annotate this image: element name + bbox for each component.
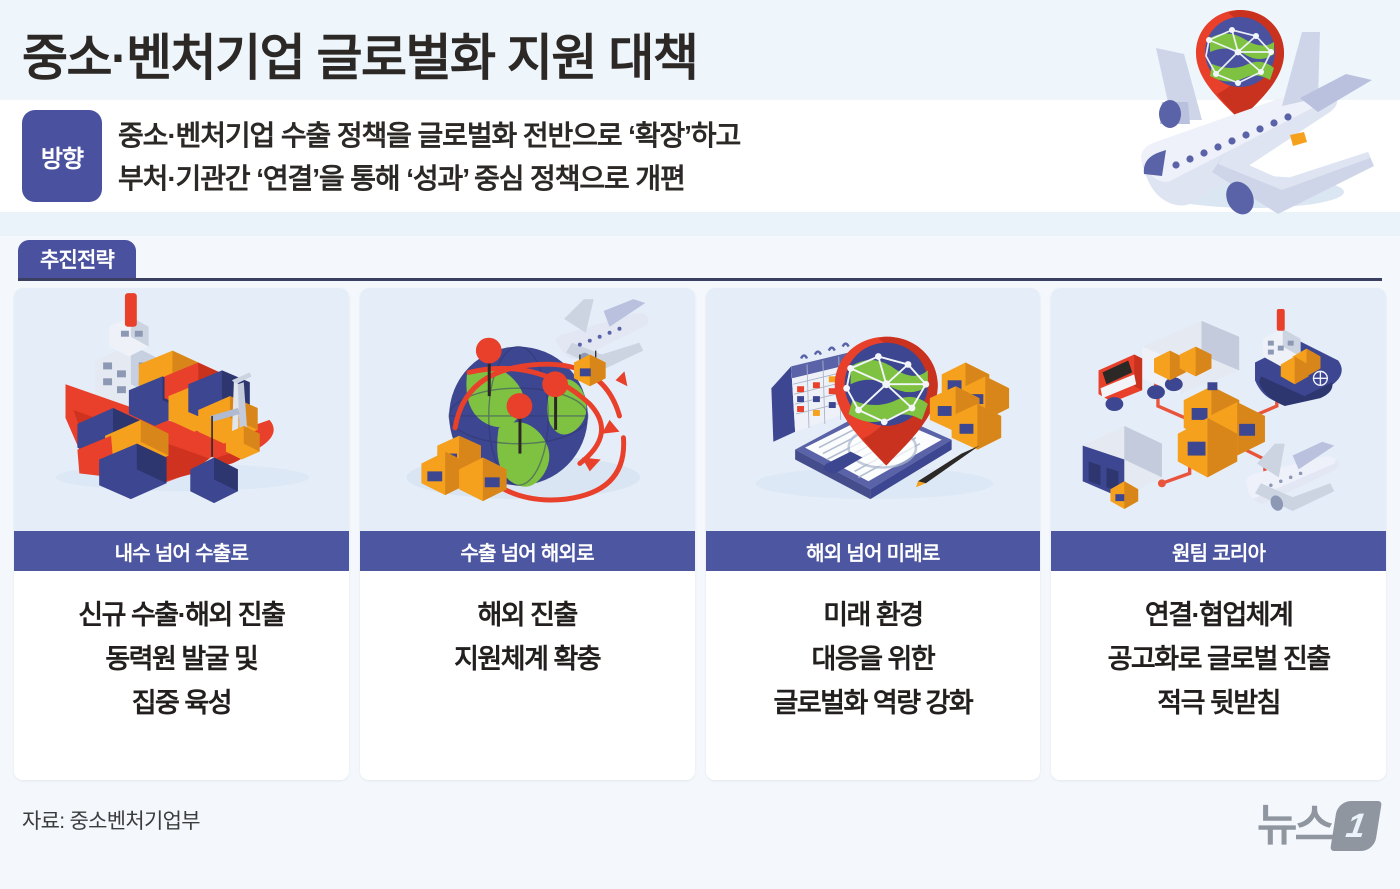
direction-line-1: 중소·벤처기업 수출 정책을 글로벌화 전반으로 ‘확장’하고 [118, 114, 740, 157]
page-title: 중소·벤처기업 글로벌화 지원 대책 [22, 18, 697, 90]
strategy-divider [18, 278, 1382, 281]
direction-line-2: 부처·기관간 ‘연결’을 통해 ‘성과’ 중심 정책으로 개편 [118, 157, 740, 200]
card-body-text: 해외 진출 지원체계 확충 [360, 571, 695, 780]
card-header-label: 해외 넘어 미래로 [706, 531, 1041, 571]
globe-network-airplane-icon [360, 288, 695, 531]
strategy-tab[interactable]: 추진전략 [18, 240, 136, 278]
strategy-card-grid: 내수 넘어 수출로 신규 수출·해외 진출 동력원 발굴 및 집중 육성 [14, 288, 1386, 780]
card-header-label: 원팀 코리아 [1051, 531, 1386, 571]
strategy-card[interactable]: 내수 넘어 수출로 신규 수출·해외 진출 동력원 발굴 및 집중 육성 [14, 288, 349, 780]
strategy-card[interactable]: 해외 넘어 미래로 미래 환경 대응을 위한 글로벌화 역량 강화 [706, 288, 1041, 780]
card-header-label: 내수 넘어 수출로 [14, 531, 349, 571]
card-header-label: 수출 넘어 해외로 [360, 531, 695, 571]
header-zone: 중소·벤처기업 글로벌화 지원 대책 방향 중소·벤처기업 수출 정책을 글로벌… [0, 0, 1400, 236]
logo-wordmark: 뉴스 [1257, 804, 1332, 848]
strategy-card[interactable]: 원팀 코리아 연결·협업체계 공고화로 글로벌 진출 적극 뒷받침 [1051, 288, 1386, 780]
logistics-network-icon [1051, 288, 1386, 531]
source-note: 자료: 중소벤처기업부 [22, 805, 200, 835]
logo-numeral-one: 1 [1330, 801, 1382, 851]
calendar-clipboard-globe-icon [706, 288, 1041, 531]
container-ship-icon [14, 288, 349, 531]
strategy-card[interactable]: 수출 넘어 해외로 해외 진출 지원체계 확충 [360, 288, 695, 780]
direction-badge: 방향 [22, 110, 102, 202]
direction-text: 중소·벤처기업 수출 정책을 글로벌화 전반으로 ‘확장’하고 부처·기관간 ‘… [118, 114, 740, 200]
card-body-text: 신규 수출·해외 진출 동력원 발굴 및 집중 육성 [14, 571, 349, 780]
card-body-text: 미래 환경 대응을 위한 글로벌화 역량 강화 [706, 571, 1041, 780]
card-body-text: 연결·협업체계 공고화로 글로벌 진출 적극 뒷받침 [1051, 571, 1386, 780]
news1-logo: 뉴스 1 [1257, 798, 1378, 854]
airplane-globe-pin-icon [1132, 2, 1382, 228]
